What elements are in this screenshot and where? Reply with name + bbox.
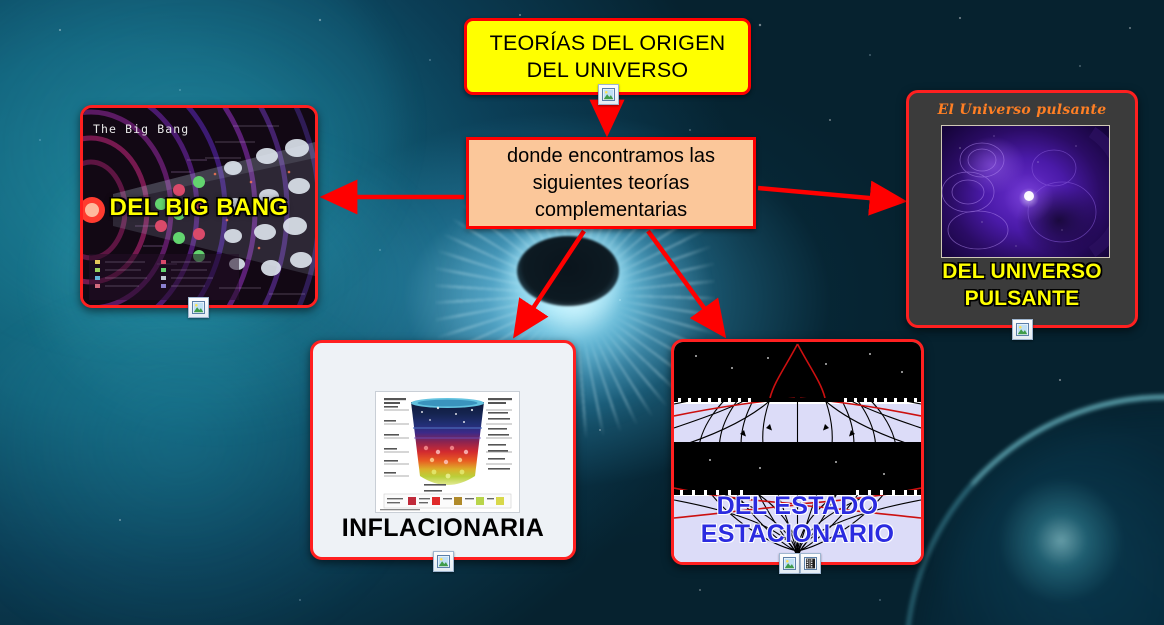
node-inflacionaria[interactable]: INFLACIONARIA xyxy=(310,340,576,560)
node-title-line1: TEORÍAS DEL ORIGEN xyxy=(490,31,726,55)
image-icon[interactable] xyxy=(1012,319,1033,340)
node-estacionario-label-wrap: DEL ESTADO ESTACIONARIO xyxy=(674,492,921,548)
film-icon[interactable] xyxy=(800,553,821,574)
mindmap-canvas: TEORÍAS DEL ORIGEN DEL UNIVERSO donde en… xyxy=(0,0,1164,625)
inflation-diagram xyxy=(376,392,519,512)
node-center[interactable]: donde encontramos las siguientes teorías… xyxy=(466,137,756,229)
node-pulsante-label-wrap: DEL UNIVERSO PULSANTE xyxy=(909,258,1135,312)
node-big-bang-label: DEL BIG BANG xyxy=(109,194,288,221)
node-pulsante-label-line1: DEL UNIVERSO xyxy=(909,258,1135,285)
node-center-line3: complementarias xyxy=(535,199,687,221)
node-center-line1: donde encontramos las xyxy=(507,145,715,167)
connector-center-to-inflacionaria xyxy=(516,231,584,334)
node-estacionario-label-line2: ESTACIONARIO xyxy=(674,520,921,548)
node-big-bang-label-wrap: DEL BIG BANG xyxy=(83,194,315,222)
node-inflacionaria-label-wrap: INFLACIONARIA xyxy=(313,514,573,543)
node-universo-pulsante[interactable]: El Universo pulsante DEL UNIVERSO PULSAN… xyxy=(906,90,1138,328)
image-icon[interactable] xyxy=(188,297,209,318)
node-title-line2: DEL UNIVERSO xyxy=(527,58,689,82)
node-center-line2: siguientes teorías xyxy=(533,172,690,194)
node-center-text: donde encontramos las siguientes teorías… xyxy=(507,143,715,224)
connector-center-to-pulsante xyxy=(758,188,902,201)
connector-center-to-estacionario xyxy=(648,231,723,334)
node-estado-estacionario[interactable]: DEL ESTADO ESTACIONARIO xyxy=(671,339,924,565)
pulsante-illustration xyxy=(941,125,1110,258)
pulsante-caption: El Universo pulsante xyxy=(938,102,1107,118)
pulsante-fractal-arcs xyxy=(942,126,1109,257)
node-title-text: TEORÍAS DEL ORIGEN DEL UNIVERSO xyxy=(490,30,726,84)
image-icon[interactable] xyxy=(433,551,454,572)
image-icon[interactable] xyxy=(779,553,800,574)
node-big-bang[interactable]: The Big Bang DEL BIG BANG xyxy=(80,105,318,308)
node-pulsante-label-line2: PULSANTE xyxy=(909,285,1135,312)
node-estacionario-label-line1: DEL ESTADO xyxy=(674,492,921,520)
pulsante-caption-wrap: El Universo pulsante xyxy=(909,101,1135,119)
node-inflacionaria-label: INFLACIONARIA xyxy=(342,514,544,542)
image-icon[interactable] xyxy=(598,84,619,105)
inflacionaria-illustration xyxy=(375,391,520,513)
big-bang-caption: The Big Bang xyxy=(93,122,189,136)
